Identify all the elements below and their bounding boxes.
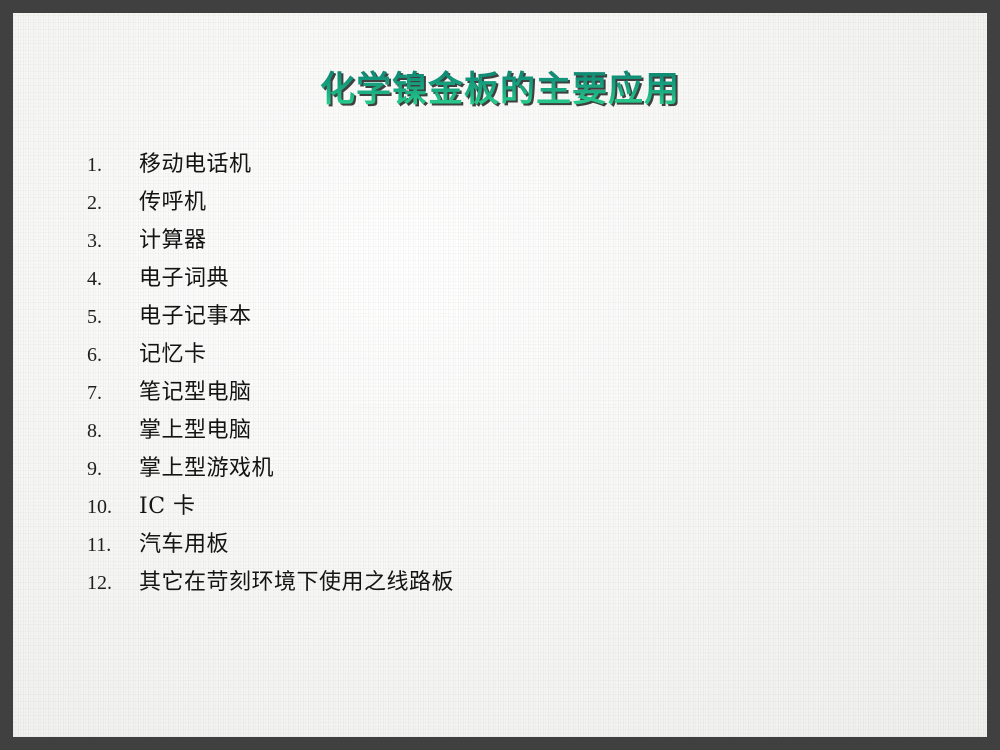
list-item-number: 12.: [87, 564, 139, 602]
slide-border-frame: 化学镍金板的主要应用 1. 移动电话机 2. 传呼机 3. 计算器 4. 电子词…: [0, 0, 1000, 750]
list-item-label: 电子词典: [139, 260, 229, 298]
list-item: 2. 传呼机: [87, 184, 887, 222]
list-item-label: 笔记型电脑: [139, 374, 252, 412]
list-item-number: 10.: [87, 488, 139, 526]
list-item-number: 3.: [87, 222, 139, 260]
list-item: 11. 汽车用板: [87, 526, 887, 564]
list-item-label: 掌上型电脑: [139, 412, 252, 450]
list-item-label: 记忆卡: [139, 336, 207, 374]
list-item: 5. 电子记事本: [87, 298, 887, 336]
list-item-number: 8.: [87, 412, 139, 450]
list-item: 1. 移动电话机: [87, 146, 887, 184]
list-item-label: 计算器: [139, 222, 207, 260]
list-item-number: 11.: [87, 526, 139, 564]
list-item-number: 7.: [87, 374, 139, 412]
list-item: 6. 记忆卡: [87, 336, 887, 374]
list-item: 9. 掌上型游戏机: [87, 450, 887, 488]
list-item: 7. 笔记型电脑: [87, 374, 887, 412]
page-title: 化学镍金板的主要应用: [13, 67, 987, 113]
list-item: 10. IC 卡: [87, 488, 887, 526]
list-item-label: 移动电话机: [139, 146, 252, 184]
list-item-number: 1.: [87, 146, 139, 184]
list-item-label: 其它在苛刻环境下使用之线路板: [139, 564, 454, 602]
list-item: 12. 其它在苛刻环境下使用之线路板: [87, 564, 887, 602]
list-item-number: 6.: [87, 336, 139, 374]
list-item-number: 2.: [87, 184, 139, 222]
list-item: 3. 计算器: [87, 222, 887, 260]
application-list: 1. 移动电话机 2. 传呼机 3. 计算器 4. 电子词典 5. 电子记事本 …: [87, 146, 887, 602]
list-item-label: 掌上型游戏机: [139, 450, 274, 488]
list-item-number: 9.: [87, 450, 139, 488]
list-item-label: IC 卡: [139, 488, 196, 526]
list-item-label: 传呼机: [139, 184, 207, 222]
list-item-number: 5.: [87, 298, 139, 336]
list-item: 8. 掌上型电脑: [87, 412, 887, 450]
list-item-label: 汽车用板: [139, 526, 229, 564]
list-item-number: 4.: [87, 260, 139, 298]
list-item: 4. 电子词典: [87, 260, 887, 298]
list-item-label: 电子记事本: [139, 298, 252, 336]
slide-canvas: 化学镍金板的主要应用 1. 移动电话机 2. 传呼机 3. 计算器 4. 电子词…: [13, 13, 987, 737]
